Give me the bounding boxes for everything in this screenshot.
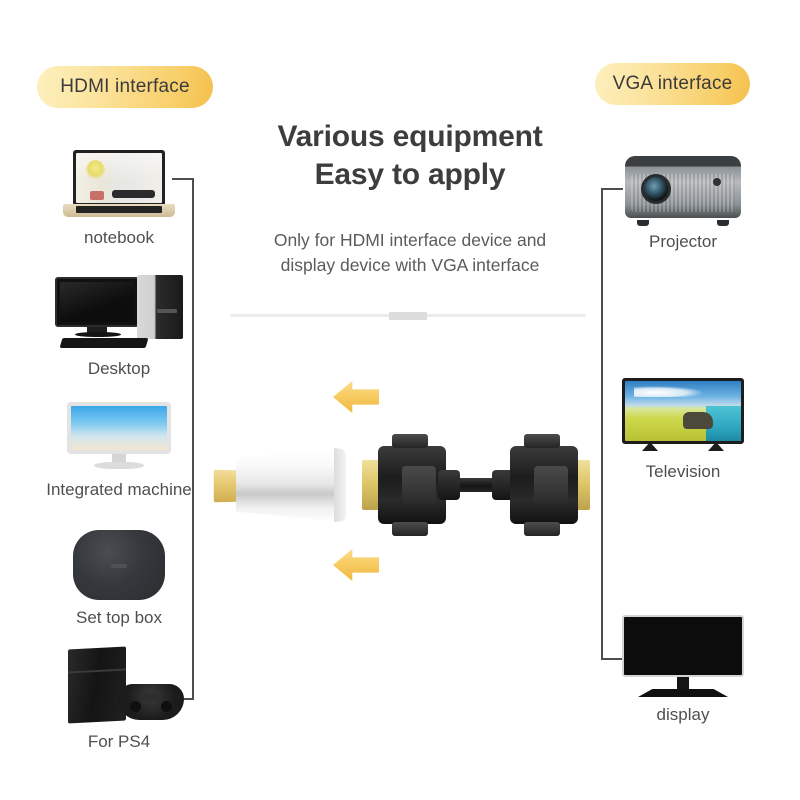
page-subtitle: Only for HDMI interface device and displ… bbox=[212, 228, 608, 277]
left-arrow-icon-bottom bbox=[333, 549, 379, 581]
hdmi-to-vga-adapter bbox=[214, 446, 346, 524]
desktop-pc-icon bbox=[55, 275, 183, 353]
monitor-neck bbox=[677, 677, 689, 691]
adapter-housing bbox=[236, 448, 346, 522]
left-arrow-icon-top bbox=[333, 381, 379, 413]
tv-screen bbox=[625, 381, 741, 441]
headline-line-2: Easy to apply bbox=[214, 156, 606, 194]
device-item-display: display bbox=[588, 615, 778, 725]
device-label: Set top box bbox=[24, 608, 214, 628]
vga-male-to-male-cable bbox=[362, 434, 590, 536]
tv-frame bbox=[622, 378, 744, 444]
divider-knob bbox=[389, 312, 427, 320]
screen-detail bbox=[112, 190, 155, 198]
device-item-television: Television bbox=[588, 378, 778, 482]
ps4-console bbox=[68, 646, 126, 723]
device-label: Television bbox=[588, 462, 778, 482]
laptop-keyboard bbox=[76, 206, 162, 213]
page-title: Various equipment Easy to apply bbox=[214, 118, 606, 193]
product-image bbox=[214, 430, 590, 540]
pc-monitor-screen bbox=[60, 282, 134, 322]
aio-foot bbox=[94, 462, 144, 469]
device-label: Integrated machine bbox=[24, 480, 214, 500]
device-item-notebook: notebook bbox=[24, 150, 214, 248]
device-item-integrated-machine: Integrated machine bbox=[24, 402, 214, 500]
device-item-set-top-box: Set top box bbox=[24, 528, 214, 628]
infographic-canvas: HDMI interface VGA interface Various equ… bbox=[0, 0, 800, 800]
vga-shell bbox=[378, 446, 446, 524]
pc-tower-drive bbox=[157, 309, 177, 313]
projector-leg-right bbox=[717, 220, 729, 226]
vga-thumbscrew-top bbox=[524, 434, 560, 448]
tv-screen-cloud bbox=[634, 386, 704, 397]
laptop-lid bbox=[73, 150, 165, 206]
laptop-screen bbox=[76, 153, 162, 203]
stb-logo bbox=[111, 564, 127, 568]
device-label: For PS4 bbox=[24, 732, 214, 752]
monitor-icon bbox=[622, 615, 744, 699]
device-label: Projector bbox=[588, 232, 778, 252]
television-icon bbox=[622, 378, 744, 456]
adapter-end-cap bbox=[334, 448, 346, 522]
stb-body bbox=[73, 530, 165, 600]
headline-line-1: Various equipment bbox=[278, 120, 543, 153]
all-in-one-icon bbox=[64, 402, 174, 474]
aio-body bbox=[67, 402, 171, 454]
device-label: Desktop bbox=[24, 359, 214, 379]
ps4-seam bbox=[68, 669, 126, 674]
badge-vga-interface: VGA interface bbox=[595, 63, 750, 105]
vga-strain-relief-left bbox=[438, 470, 460, 500]
device-item-desktop: Desktop bbox=[24, 275, 214, 379]
device-item-projector: Projector bbox=[588, 152, 778, 252]
set-top-box-icon bbox=[73, 528, 165, 602]
projector-leg-left bbox=[637, 220, 649, 226]
pc-monitor-foot bbox=[75, 332, 121, 337]
subhead-line-2: display device with VGA interface bbox=[212, 253, 608, 278]
pc-keyboard bbox=[60, 338, 149, 348]
monitor-foot bbox=[638, 689, 728, 697]
vga-thumbscrew-bottom bbox=[524, 522, 560, 536]
pc-monitor bbox=[55, 277, 139, 327]
vga-thumbscrew-top bbox=[392, 434, 428, 448]
badge-hdmi-interface: HDMI interface bbox=[37, 66, 213, 108]
aio-screen bbox=[71, 406, 167, 450]
controller-touchpad bbox=[142, 693, 160, 701]
laptop-icon bbox=[63, 150, 175, 222]
projector-sensor bbox=[713, 178, 721, 186]
device-label: notebook bbox=[24, 228, 214, 248]
vga-shell bbox=[510, 446, 578, 524]
device-item-ps4: For PS4 bbox=[24, 648, 214, 752]
controller-stick-left bbox=[130, 701, 141, 712]
ps4-controller bbox=[118, 684, 184, 720]
projector-icon bbox=[625, 152, 741, 226]
game-console-icon bbox=[54, 648, 184, 726]
device-label: display bbox=[588, 705, 778, 725]
vga-connector-right bbox=[494, 434, 590, 536]
pc-tower bbox=[137, 275, 183, 339]
hdmi-connector bbox=[214, 470, 240, 503]
section-divider bbox=[230, 314, 586, 317]
projector-lens bbox=[641, 174, 671, 204]
monitor-frame bbox=[622, 615, 744, 677]
subhead-line-1: Only for HDMI interface device and bbox=[274, 230, 546, 250]
controller-stick-right bbox=[161, 701, 172, 712]
vga-thumbscrew-bottom bbox=[392, 522, 428, 536]
tv-screen-rock bbox=[683, 412, 713, 429]
